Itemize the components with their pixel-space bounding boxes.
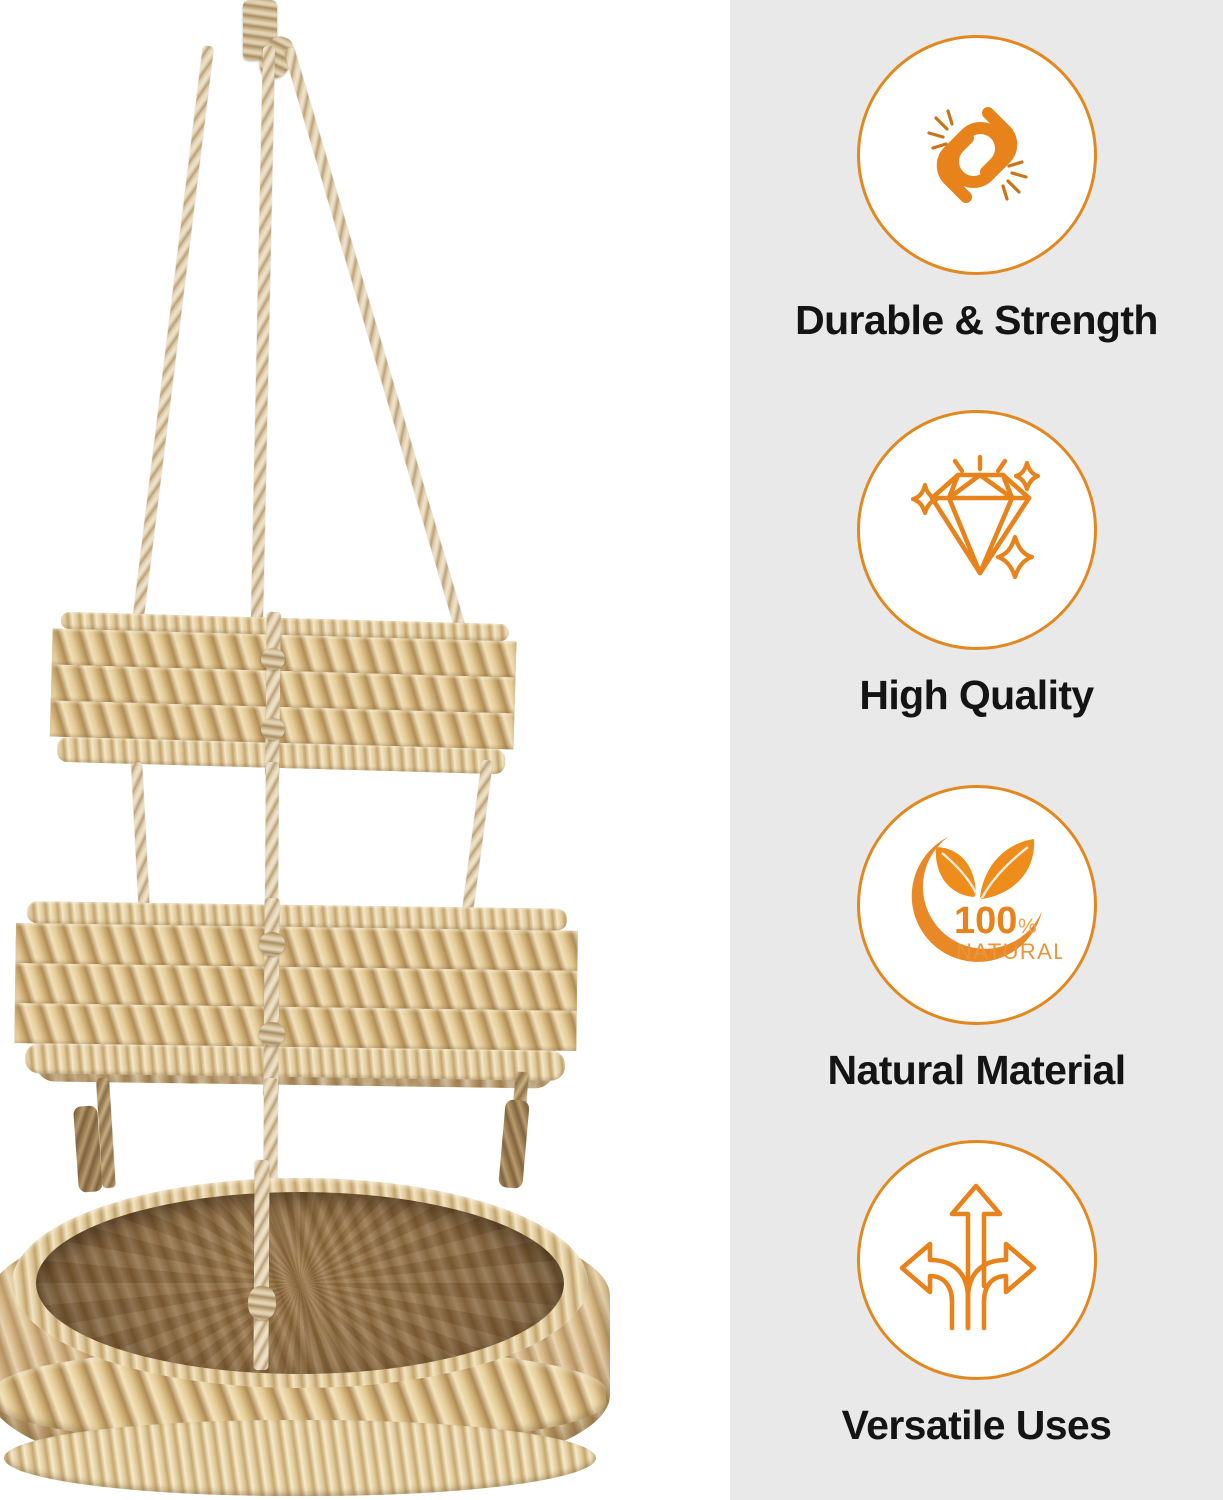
chain-link-badge — [857, 35, 1097, 275]
bottom-tier-interior-weave — [36, 1192, 564, 1374]
diamond-sparkle-badge — [857, 410, 1097, 650]
bottom-tier-rope-binding — [253, 1160, 269, 1370]
hanging-rope-right — [283, 46, 468, 639]
chain-link-icon — [902, 80, 1052, 230]
hanging-rope-left — [127, 45, 213, 662]
feature-list-panel: Durable & Strength — [730, 0, 1223, 1500]
product-image-panel — [0, 0, 730, 1500]
diamond-sparkle-icon — [899, 455, 1054, 605]
natural-word: NATURAL — [956, 939, 1062, 964]
top-tier-knot-lower — [261, 718, 285, 740]
feature-durable-strength: Durable & Strength — [730, 35, 1223, 344]
feature-label: High Quality — [859, 672, 1093, 719]
top-tier-rope-binding — [265, 612, 281, 777]
feature-label: Versatile Uses — [842, 1402, 1112, 1449]
percent-symbol: % — [1018, 915, 1037, 938]
product-photo — [0, 0, 730, 1500]
bottom-tier-foot-rim — [4, 1420, 596, 1496]
leaf-100-natural-icon: 100 % NATURAL — [892, 825, 1062, 985]
feature-versatile-uses: Versatile Uses — [730, 1140, 1223, 1449]
feature-natural-material: 100 % NATURAL Natural Material — [730, 785, 1223, 1094]
feature-label: Natural Material — [827, 1047, 1125, 1094]
middle-tier-knot-lower — [259, 1022, 285, 1046]
three-way-arrows-badge — [857, 1140, 1097, 1380]
hanging-rope-center — [250, 46, 275, 646]
middle-tier-rope-binding — [263, 898, 279, 1098]
top-tier-basket — [66, 612, 500, 774]
infographic-page: Durable & Strength — [0, 0, 1223, 1500]
middle-tier-basket — [35, 901, 557, 1088]
top-tier-knot-upper — [261, 648, 285, 670]
bottom-tier-basket — [0, 1168, 610, 1500]
percent-value: 100 — [954, 900, 1017, 942]
leaf-100-natural-badge: 100 % NATURAL — [857, 785, 1097, 1025]
middle-tier-knot-upper — [259, 932, 285, 956]
feature-high-quality: High Quality — [730, 410, 1223, 719]
three-way-arrows-icon — [894, 1178, 1059, 1343]
bottom-tier-rope-lug-right — [498, 1099, 530, 1189]
bottom-tier-knot — [248, 1286, 276, 1320]
leaf-left — [935, 847, 975, 897]
feature-label: Durable & Strength — [795, 297, 1158, 344]
